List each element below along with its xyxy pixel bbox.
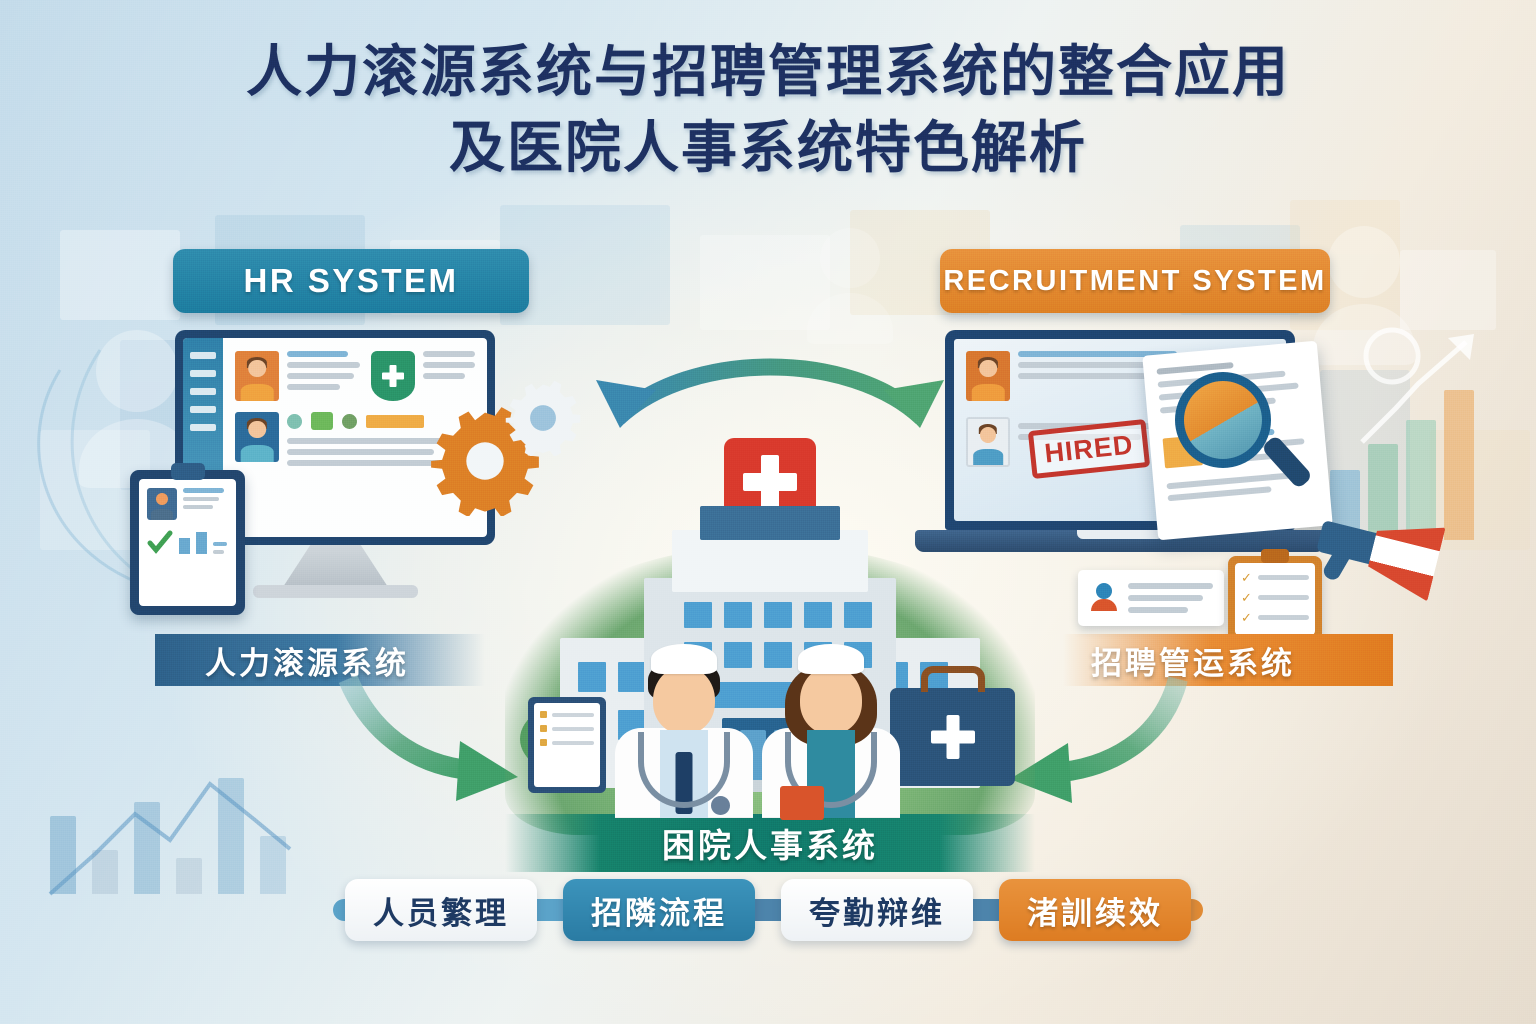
chip-staff-management[interactable]: 人员繁理 <box>345 879 537 941</box>
chip-label: 人员繁理 <box>373 888 509 933</box>
chip-recruitment-process[interactable]: 招隣流程 <box>563 879 755 941</box>
chip-label: 夸勤辩维 <box>809 888 945 933</box>
chip-label: 渚訓续效 <box>1027 888 1163 933</box>
chip-attendance[interactable]: 夸勤辩维 <box>781 879 973 941</box>
infographic-canvas: 人力滚源系统与招聘管理系统的整合应用 及医院人事系统特色解析 HR SYSTEM <box>0 0 1536 1024</box>
chip-label: 招隣流程 <box>591 888 727 933</box>
folder-icon <box>780 786 824 820</box>
chip-training-performance[interactable]: 渚訓续效 <box>999 879 1191 941</box>
texture-overlay <box>0 0 1536 1024</box>
